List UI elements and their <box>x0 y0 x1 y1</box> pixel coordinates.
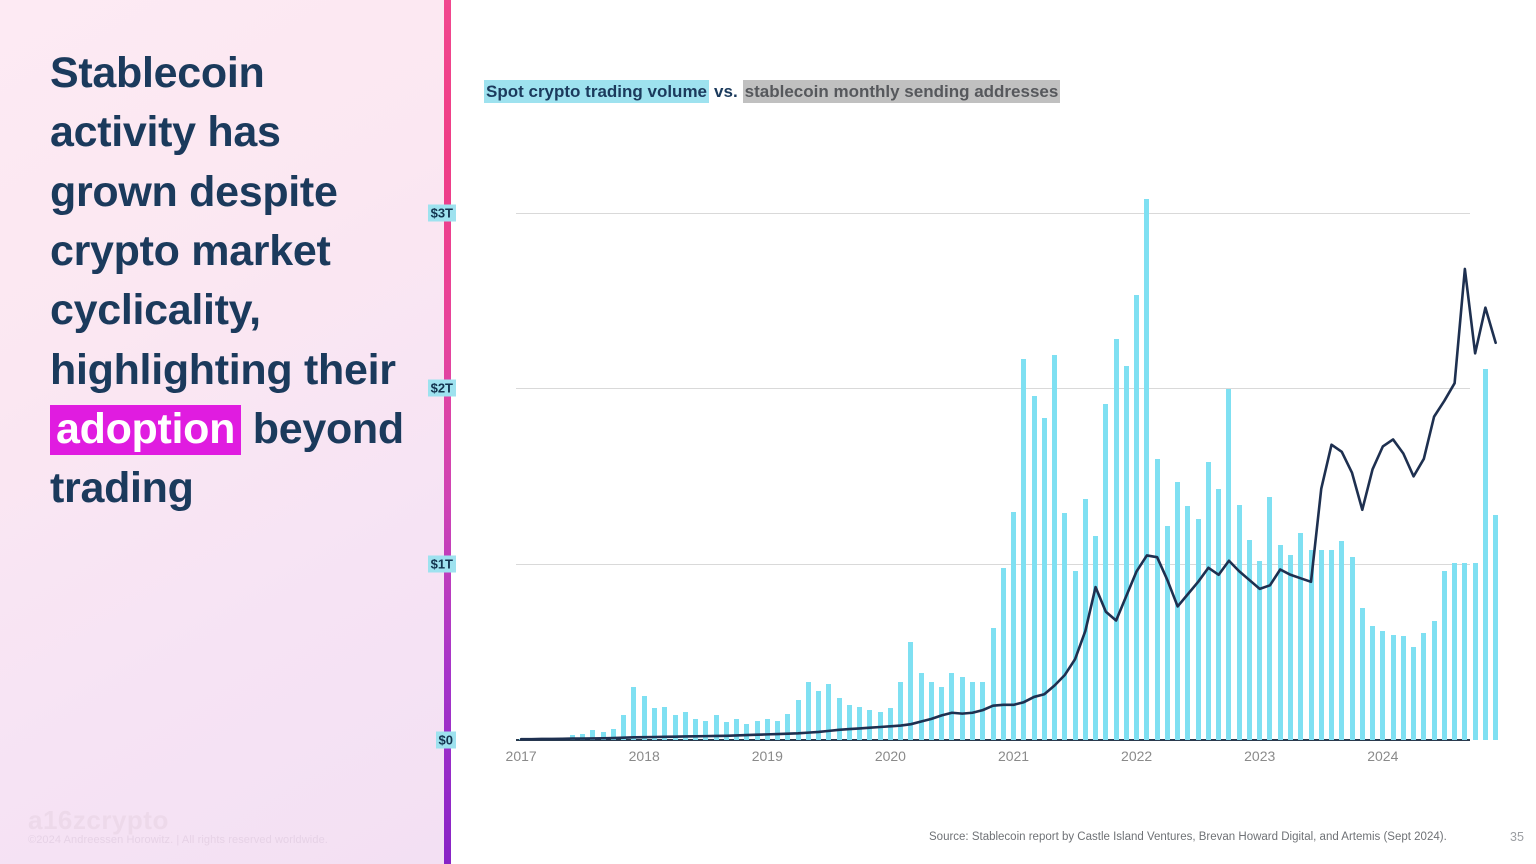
a16zcrypto-logo: a16zcrypto <box>28 805 169 836</box>
x-tick: 2019 <box>752 748 783 764</box>
bar <box>1483 369 1488 740</box>
chart-title-vs: vs. <box>709 82 743 101</box>
source-note: Source: Stablecoin report by Castle Isla… <box>929 831 1447 843</box>
chart-title: Spot crypto trading volumevs.stablecoin … <box>484 82 1060 102</box>
line-path <box>521 269 1496 739</box>
y-tick-left: $0 <box>436 732 456 749</box>
chart-title-line-label: stablecoin monthly sending addresses <box>743 80 1061 103</box>
x-tick: 2018 <box>629 748 660 764</box>
plot-area: $0$1T$2T$3T 010M20M30M 20172018201920202… <box>516 160 1470 760</box>
line-series <box>516 160 1470 740</box>
headline-highlight: adoption <box>50 405 241 455</box>
x-tick: 2017 <box>506 748 537 764</box>
y-tick-left: $3T <box>428 204 456 221</box>
x-tick: 2024 <box>1367 748 1398 764</box>
bar <box>1493 515 1498 740</box>
y-tick-left: $1T <box>428 556 456 573</box>
x-tick: 2020 <box>875 748 906 764</box>
chart-title-bars-label: Spot crypto trading volume <box>484 80 709 103</box>
page-title: Stablecoin activity has grown despite cr… <box>50 44 410 519</box>
bar <box>1473 563 1478 741</box>
x-tick: 2022 <box>1121 748 1152 764</box>
x-tick: 2021 <box>998 748 1029 764</box>
page-number: 35 <box>1510 830 1524 844</box>
y-tick-left: $2T <box>428 380 456 397</box>
headline-prefix: Stablecoin activity has grown despite cr… <box>50 49 396 394</box>
left-panel: Stablecoin activity has grown despite cr… <box>0 0 444 864</box>
chart-panel: Spot crypto trading volumevs.stablecoin … <box>451 0 1536 864</box>
copyright-text: ©2024 Andreessen Horowitz. | All rights … <box>28 834 328 846</box>
x-tick: 2023 <box>1244 748 1275 764</box>
slide: Stablecoin activity has grown despite cr… <box>0 0 1536 864</box>
